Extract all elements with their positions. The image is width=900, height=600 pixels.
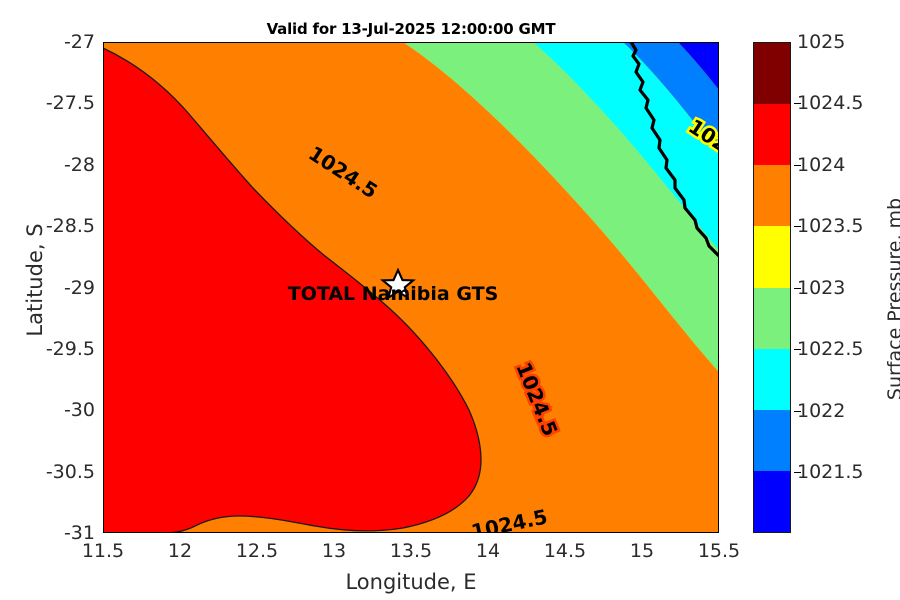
colorbar-title: Surface Pressure, mb bbox=[884, 129, 900, 469]
contour-map[interactable]: 1024.5 1023.5 1024 1024.5 1024.5 TOTAL N… bbox=[103, 42, 719, 533]
pressure-contour-figure: Valid for 13-Jul-2025 12:00:00 GMT bbox=[0, 0, 900, 600]
ytick-label: -28.5 bbox=[46, 215, 95, 237]
colorbar[interactable] bbox=[753, 42, 791, 533]
xtick-label: 15.5 bbox=[698, 540, 740, 562]
xtick-label: 12 bbox=[168, 540, 192, 562]
colorbar-label: 1024.5 bbox=[797, 92, 863, 114]
xtick-label: 11.5 bbox=[82, 540, 124, 562]
xtick-label: 12.5 bbox=[236, 540, 278, 562]
ytick-label: -27 bbox=[64, 31, 95, 53]
page-title: Valid for 13-Jul-2025 12:00:00 GMT bbox=[103, 20, 719, 38]
colorbar-labels: 1025 1024.5 1024 1023.5 1023 1022.5 1022… bbox=[797, 42, 897, 533]
colorbar-label: 1022.5 bbox=[797, 338, 863, 360]
ytick-label: -28 bbox=[64, 154, 95, 176]
colorbar-label: 1023.5 bbox=[797, 215, 863, 237]
colorbar-band bbox=[754, 43, 790, 104]
colorbar-label: 1021.5 bbox=[797, 461, 863, 483]
ytick-label: -29.5 bbox=[46, 338, 95, 360]
colorbar-label: 1024 bbox=[797, 154, 845, 176]
y-axis-ticks: -27 -27.5 -28 -28.5 -29 -29.5 -30 -30.5 … bbox=[0, 0, 95, 600]
colorbar-band bbox=[754, 288, 790, 349]
ytick-label: -30 bbox=[64, 399, 95, 421]
colorbar-band bbox=[754, 165, 790, 226]
colorbar-band bbox=[754, 471, 790, 532]
colorbar-label: 1023 bbox=[797, 277, 845, 299]
xtick-label: 13 bbox=[322, 540, 346, 562]
xtick-label: 14.5 bbox=[544, 540, 586, 562]
colorbar-label: 1022 bbox=[797, 400, 845, 422]
xtick-label: 13.5 bbox=[390, 540, 432, 562]
y-axis-title: Latitude, S bbox=[23, 160, 47, 400]
colorbar-label: 1025 bbox=[797, 31, 845, 53]
xtick-label: 15 bbox=[630, 540, 654, 562]
colorbar-band bbox=[754, 104, 790, 165]
colorbar-band bbox=[754, 410, 790, 471]
contour-map-svg: 1024.5 1023.5 1024 1024.5 1024.5 TOTAL N… bbox=[103, 42, 719, 533]
ytick-label: -29 bbox=[64, 277, 95, 299]
x-axis-ticks: 11.5 12 12.5 13 13.5 14 14.5 15 15.5 bbox=[0, 540, 900, 568]
x-axis-title: Longitude, E bbox=[103, 570, 719, 594]
xtick-label: 14 bbox=[476, 540, 500, 562]
colorbar-band bbox=[754, 226, 790, 287]
station-label: TOTAL Namibia GTS bbox=[288, 283, 499, 305]
ytick-label: -27.5 bbox=[46, 92, 95, 114]
colorbar-band bbox=[754, 349, 790, 410]
ytick-label: -30.5 bbox=[46, 461, 95, 483]
